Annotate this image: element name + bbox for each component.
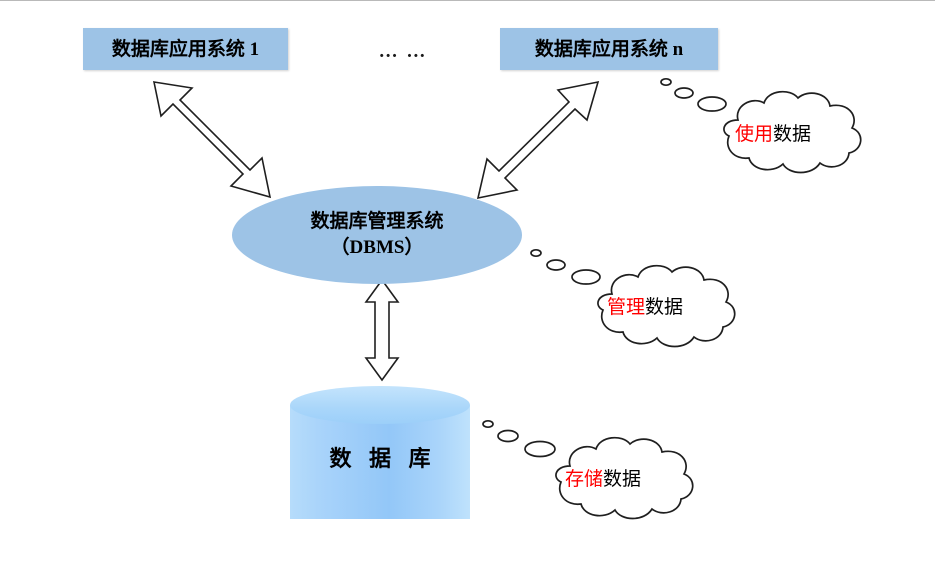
cylinder-bottom-ellipse [290,481,470,519]
cloud-manage-data-text: 管理数据 [560,298,730,317]
cloud-manage-keyword: 管理 [607,297,645,318]
thought-cloud-use-data: 使用数据 [660,76,890,186]
cloud-store-rest: 数据 [603,469,641,490]
node-database-cylinder[interactable]: 数 据 库 [290,386,470,538]
database-label: 数 据 库 [290,448,470,470]
cloud-manage-rest: 数据 [645,297,683,318]
cloud-use-data-text: 使用数据 [688,125,858,144]
dbms-label-line2: （DBMS） [331,235,424,261]
arrow-dbms-database-icon [364,278,400,382]
arrow-appn-dbms-icon [472,78,602,203]
arrow-app1-dbms-icon [152,78,277,203]
diagram-canvas: 数据库应用系统 1 … … 数据库应用系统 n 数 据 库 数据库管理系统 （D… [0,0,935,563]
app-system-n-label: 数据库应用系统 n [535,40,683,59]
ellipsis-separator: … … [365,38,441,64]
cloud-store-keyword: 存储 [565,469,603,490]
cloud-use-rest: 数据 [773,124,811,145]
ellipsis-label: … … [379,42,428,61]
cloud-store-data-text: 存储数据 [518,470,688,489]
app-system-1-label: 数据库应用系统 1 [112,40,259,59]
cloud-use-keyword: 使用 [735,124,773,145]
dbms-label-line1: 数据库管理系统 [310,209,443,235]
thought-cloud-store-data: 存储数据 [480,418,720,530]
thought-cloud-manage-data: 管理数据 [530,248,765,360]
cylinder-top-ellipse [290,386,470,424]
top-divider [0,0,935,1]
node-dbms[interactable]: 数据库管理系统 （DBMS） [232,186,522,284]
node-app-system-1[interactable]: 数据库应用系统 1 [83,28,288,70]
node-app-system-n[interactable]: 数据库应用系统 n [500,28,718,70]
